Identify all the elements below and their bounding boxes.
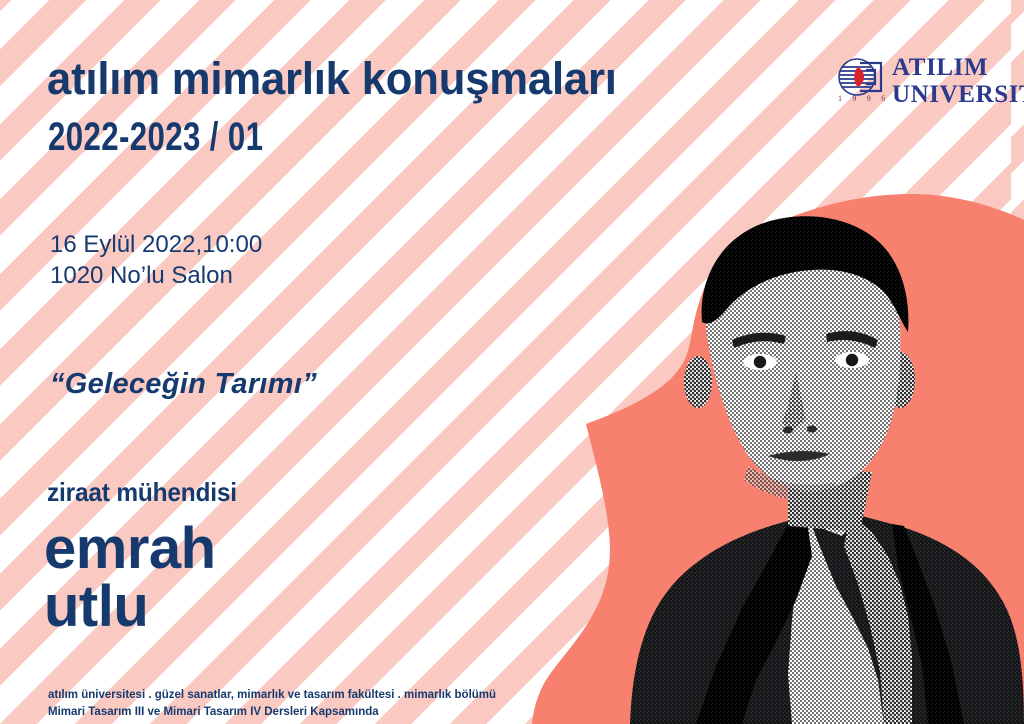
- portrait-torso: [630, 510, 1024, 724]
- event-poster: atılım mimarlık konuşmaları 2022-2023 / …: [0, 0, 1024, 724]
- speaker-portrait-halftone: [520, 180, 1024, 724]
- university-logo: ATILIM UNIVERSITY 1 9 9 6: [836, 56, 1012, 110]
- page-subtitle: 2022-2023 / 01: [48, 117, 263, 157]
- event-datetime: 16 Eylül 2022,10:00: [50, 230, 262, 260]
- event-venue: 1020 No’lu Salon: [50, 261, 233, 291]
- portrait-head: [684, 216, 915, 500]
- speaker-last-name: utlu: [44, 578, 148, 636]
- footer: atılım üniversitesi . güzel sanatlar, mi…: [48, 687, 496, 720]
- page-title: atılım mimarlık konuşmaları: [47, 56, 617, 101]
- logo-wordmark-line-2: UNIVERSITY: [892, 82, 1024, 109]
- logo-wordmark: ATILIM UNIVERSITY: [892, 55, 1024, 108]
- footer-line-2: Mimari Tasarım III ve Mimari Tasarım IV …: [48, 704, 496, 721]
- talk-title: “Geleceğin Tarımı”: [50, 368, 317, 401]
- speaker-role: ziraat mühendisi: [47, 477, 237, 508]
- footer-line-1: atılım üniversitesi . güzel sanatlar, mi…: [48, 687, 496, 704]
- logo-wordmark-line-1: ATILIM: [892, 55, 1024, 82]
- speaker-first-name: emrah: [44, 520, 216, 578]
- speaker-photo-block: [520, 180, 1024, 724]
- logo-founding-year: 1 9 9 6: [838, 94, 889, 103]
